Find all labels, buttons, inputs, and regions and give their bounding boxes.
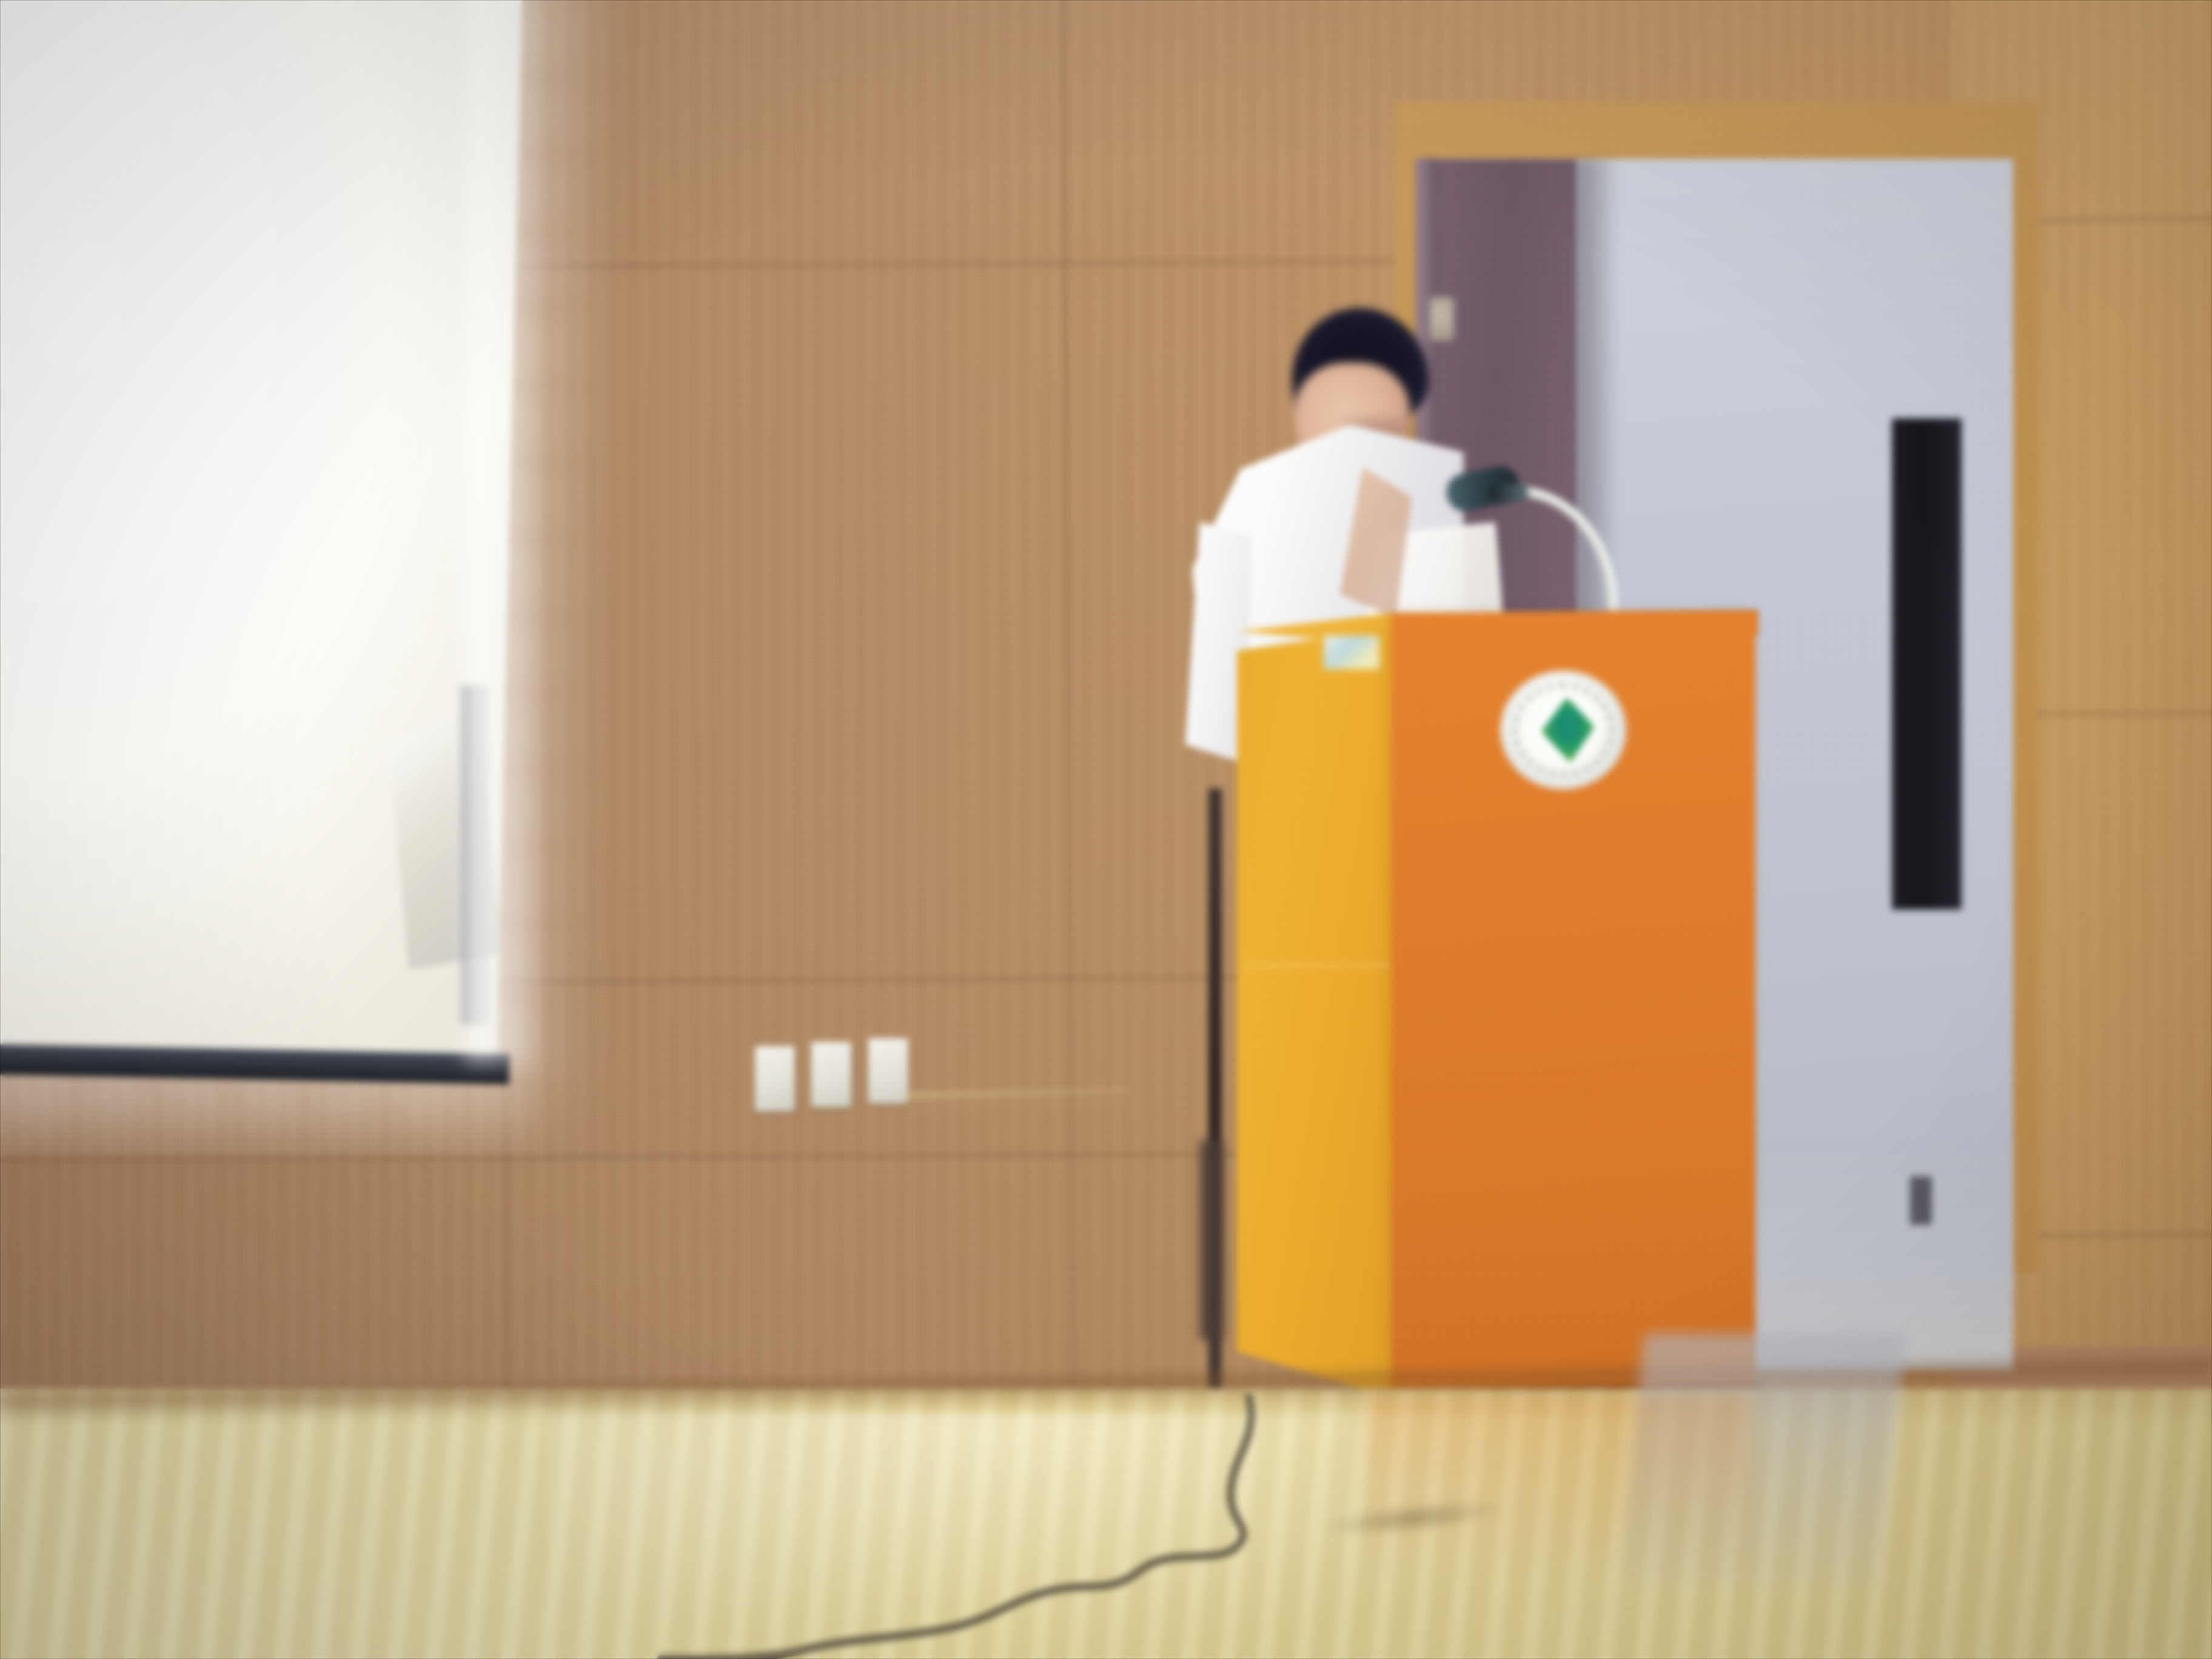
door-handle[interactable] (1430, 297, 1454, 341)
podium-sticker-label (1324, 635, 1379, 669)
floor-cable-path (661, 1398, 1251, 1659)
wall-outlet-plate-1[interactable] (755, 1046, 795, 1111)
wall-outlet-plate-2[interactable] (811, 1042, 851, 1107)
floor-cable-svg (0, 1364, 2212, 1659)
podium-side-seam (1244, 964, 1390, 967)
loudspeaker-column-foot (1910, 1176, 1932, 1225)
wall-outlet-plate-3[interactable] (868, 1038, 908, 1104)
loudspeaker-column (1892, 418, 1962, 910)
projection-screen-glow (467, 0, 546, 1061)
podium-side-panel (1237, 628, 1395, 1398)
photo-scene: Speaker at orange podium in wood-paneled… (0, 0, 2212, 1659)
floor-cable-highlight (661, 1398, 1251, 1659)
microphone-head-tip (1489, 484, 1529, 502)
podium-stand-cable-bulge (1199, 1140, 1224, 1340)
